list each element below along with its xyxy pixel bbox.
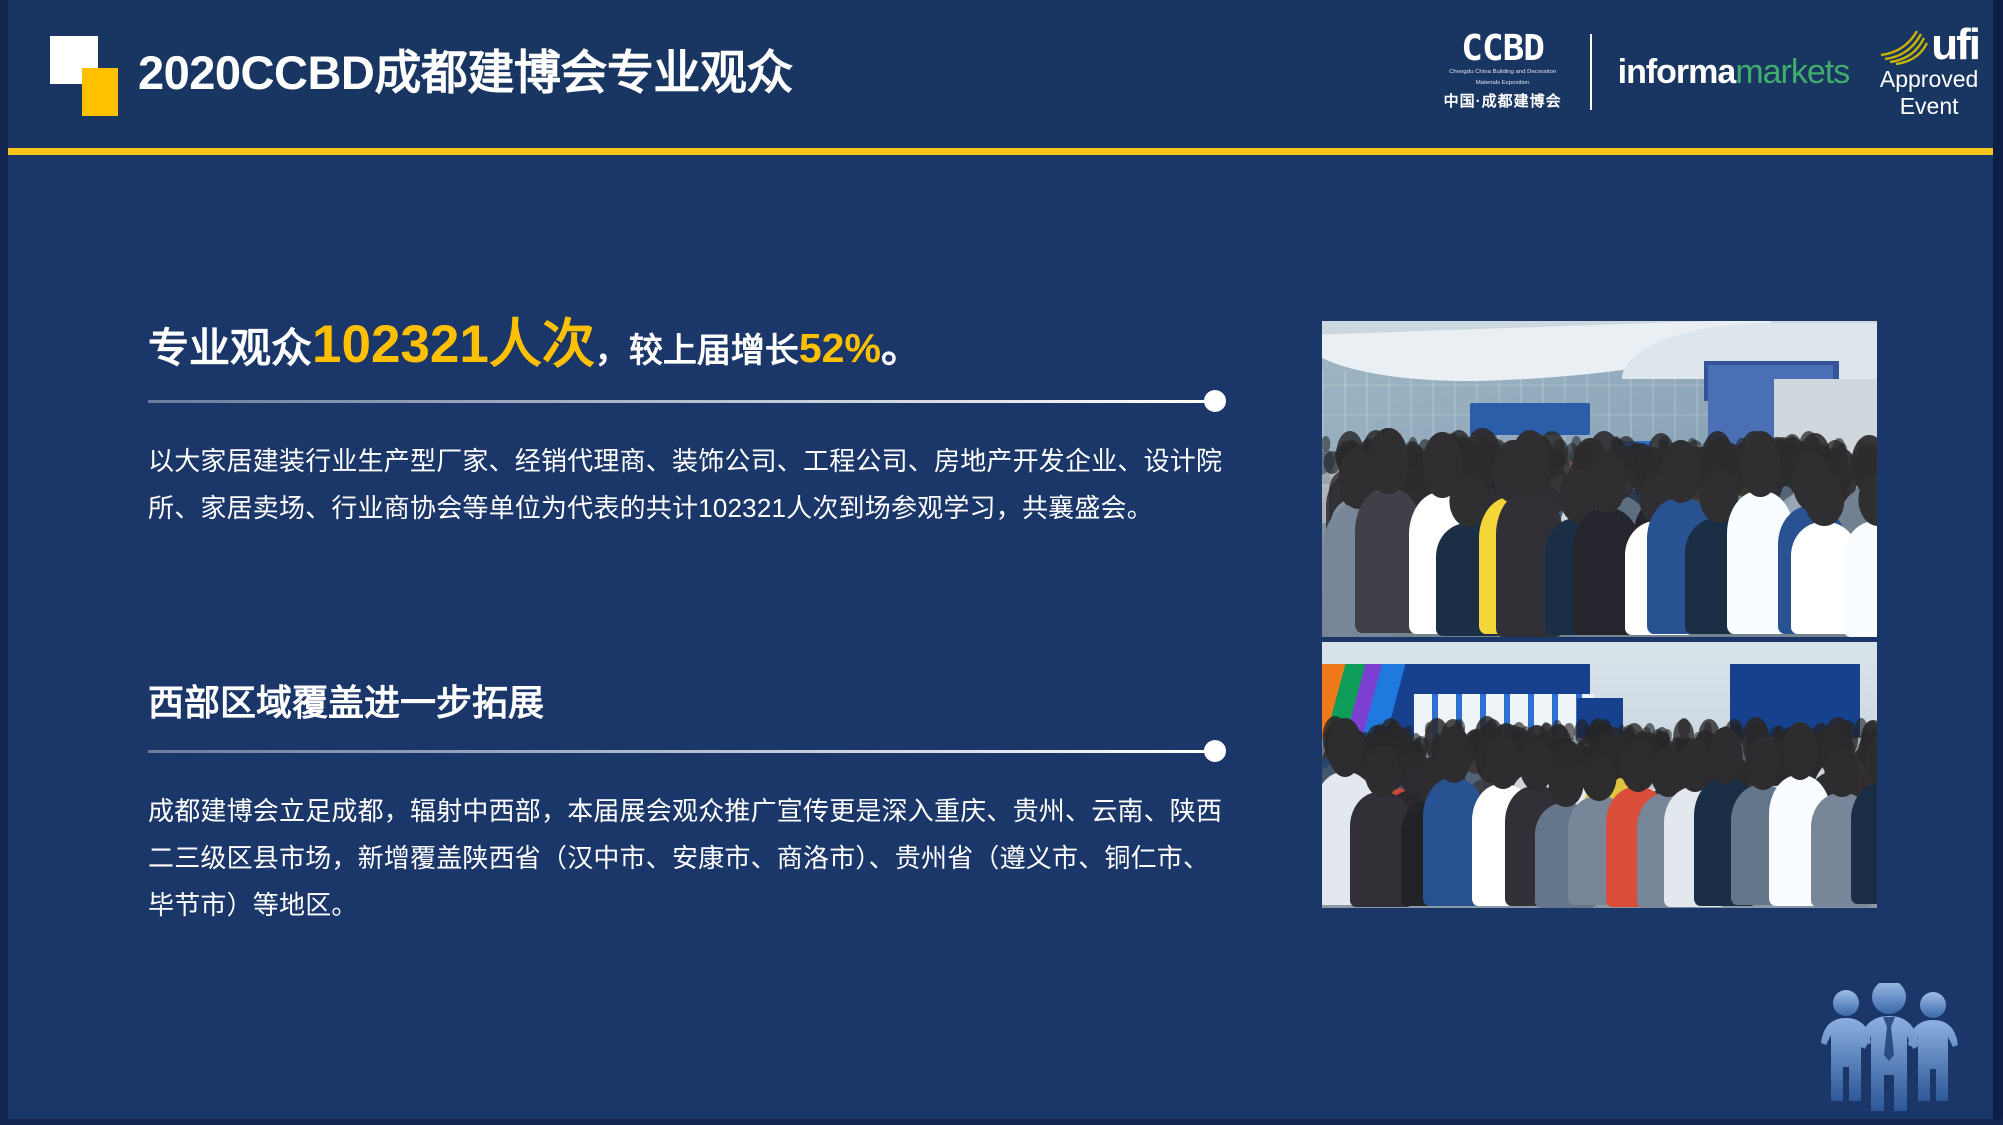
informa-bold: informa — [1618, 53, 1736, 92]
header-yellow-rule — [0, 148, 2003, 155]
section-2-rule — [148, 740, 1244, 764]
slide-edge-left — [0, 0, 8, 1125]
three-people-icon — [1817, 983, 1977, 1119]
informa-markets: markets — [1735, 53, 1849, 92]
attendance-headline: 专业观众102321人次，较上届增长52%。 — [148, 318, 1244, 378]
section-1-rule — [148, 390, 1244, 414]
ufi-swoosh-icon — [1879, 25, 1931, 65]
lockup-divider — [1590, 34, 1592, 110]
kpi-prefix: 专业观众 — [148, 325, 312, 371]
ufi-approved-event-logo: ufi Approved Event — [1879, 25, 1979, 119]
section-1-rule-dot — [1204, 390, 1226, 412]
section-1-rule-line — [148, 400, 1210, 403]
ccbd-logo: CCBD Chengdu China Building and Decorati… — [1442, 33, 1564, 111]
slide-root: 2020CCBD成都建博会专业观众 CCBD Chengdu China Bui… — [0, 0, 2003, 1125]
kpi-middle: ，较上届增长 — [595, 332, 799, 370]
square-logo-mark — [50, 36, 128, 114]
section-regional-coverage: 西部区域覆盖进一步拓展 成都建博会立足成都，辐射中西部，本届展会观众推广宣传更是… — [148, 678, 1244, 929]
attendance-body-text: 以大家居建装行业生产型厂家、经销代理商、装饰公司、工程公司、房地产开发企业、设计… — [148, 438, 1233, 532]
slide-edge-right — [1993, 0, 2003, 1125]
section-attendance: 专业观众102321人次，较上届增长52%。 以大家居建装行业生产型厂家、经销代… — [148, 318, 1244, 532]
ccbd-chinese-name: 中国·成都建博会 — [1444, 90, 1562, 111]
section-2-rule-line — [148, 750, 1210, 753]
kpi-number: 102321人次 — [312, 315, 595, 374]
informa-markets-logo: informa markets — [1618, 53, 1850, 92]
logo-square-yellow — [82, 68, 118, 116]
photo1-crowd — [1322, 447, 1877, 637]
slide-edge-bottom — [0, 1119, 2003, 1125]
ccbd-wordmark: CCBD — [1461, 33, 1544, 65]
slide-header: 2020CCBD成都建博会专业观众 CCBD Chengdu China Bui… — [0, 0, 2003, 150]
ufi-approved-label: Approved — [1880, 66, 1978, 92]
ufi-wordmark: ufi — [1931, 25, 1979, 65]
section-2-rule-dot — [1204, 740, 1226, 762]
regional-coverage-body-text: 成都建博会立足成都，辐射中西部，本届展会观众推广宣传更是深入重庆、贵州、云南、陕… — [148, 788, 1233, 929]
kpi-growth: 52% — [799, 325, 881, 371]
brand-lockup: CCBD Chengdu China Building and Decorati… — [1442, 26, 1979, 118]
ufi-event-label: Event — [1900, 93, 1959, 119]
page-title: 2020CCBD成都建博会专业观众 — [138, 38, 793, 108]
photo2-crowd — [1322, 718, 1877, 908]
ccbd-english-line-2: Materials Exposition — [1447, 80, 1559, 86]
kpi-suffix: 。 — [881, 325, 922, 371]
regional-coverage-title: 西部区域覆盖进一步拓展 — [148, 678, 1244, 728]
photo-visitor-queue-outdoor: CCBD 中国·成都建博会 — [1322, 642, 1877, 908]
ccbd-english-line-1: Chengdu China Building and Decoration — [1447, 69, 1559, 75]
photo-exhibition-entrance-crowd: CCBD 中国·成都建博会 — [1322, 321, 1877, 637]
